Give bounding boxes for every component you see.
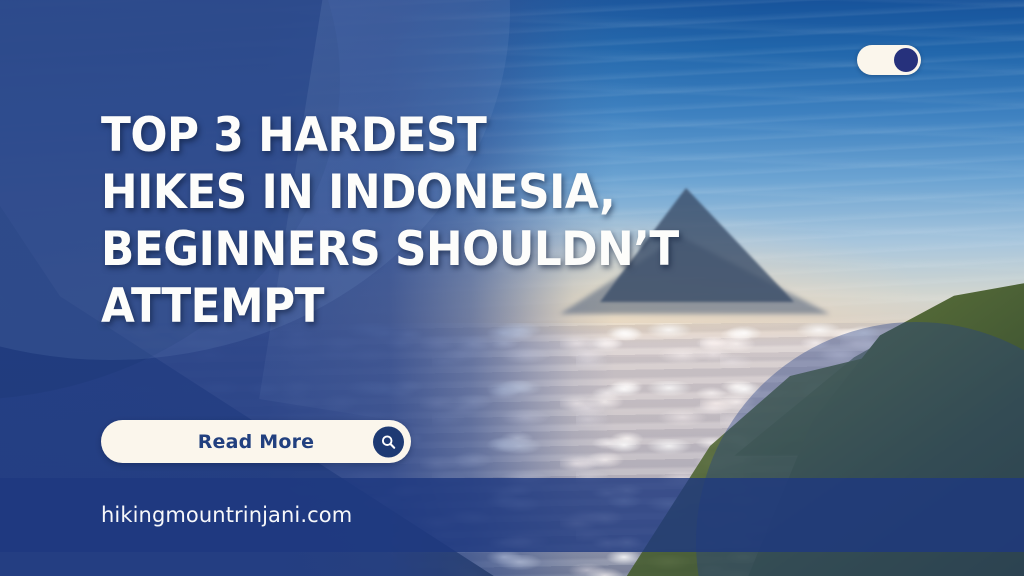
headline-line-1: Top 3 Hardest xyxy=(101,107,622,164)
read-more-label: Read More xyxy=(198,431,315,453)
read-more-button[interactable]: Read More xyxy=(101,420,411,463)
banner-content: Top 3 Hardest Hikes in Indonesia, Beginn… xyxy=(0,0,1024,576)
headline-line-3: Beginners Shouldn’t xyxy=(101,221,622,278)
toggle-switch[interactable] xyxy=(857,45,921,75)
promo-banner: Top 3 Hardest Hikes in Indonesia, Beginn… xyxy=(0,0,1024,576)
site-url: hikingmountrinjani.com xyxy=(101,503,352,527)
page-title: Top 3 Hardest Hikes in Indonesia, Beginn… xyxy=(101,107,622,335)
headline-line-2: Hikes in Indonesia, xyxy=(101,164,622,221)
headline-line-4: Attempt xyxy=(101,278,622,335)
toggle-knob xyxy=(894,48,918,72)
search-icon[interactable] xyxy=(373,426,404,457)
